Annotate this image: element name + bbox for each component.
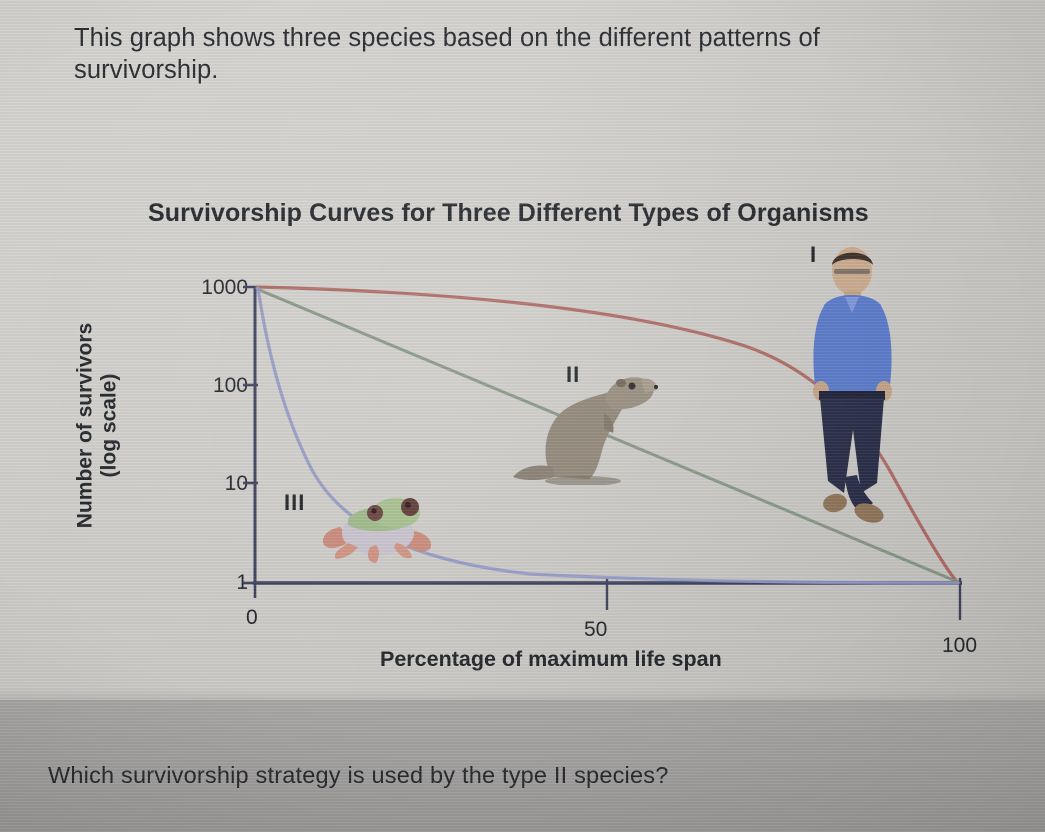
question-text: Which survivorship strategy is used by t… [48,762,968,789]
organism-frog [318,475,438,570]
organism-human [795,245,910,535]
prompt-statement: This graph shows three species based on … [74,22,934,86]
tree-frog-icon [318,475,438,570]
survivorship-chart: Survivorship Curves for Three Different … [0,150,1045,690]
screenshot-canvas: This graph shows three species based on … [0,0,1045,832]
human-figure-icon [795,245,910,535]
prairie-dog-icon [505,355,665,485]
curve-label-iii: III [284,490,305,516]
organism-prairie-dog [505,355,665,485]
